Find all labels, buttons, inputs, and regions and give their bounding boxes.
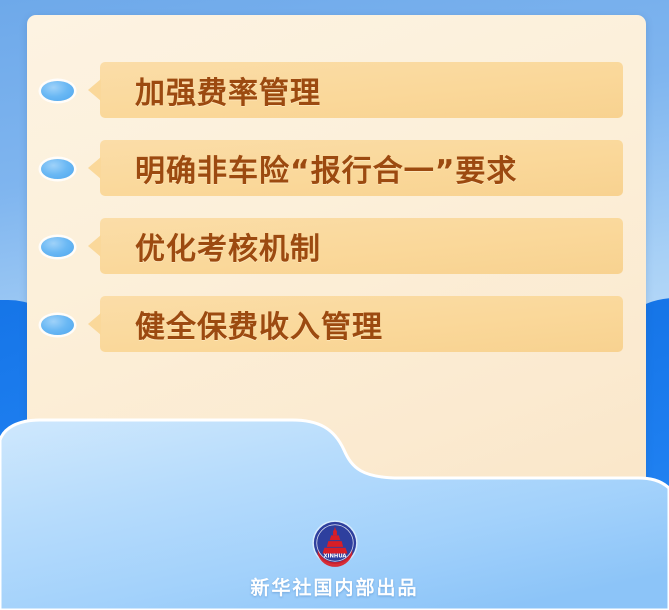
list-item-band: 优化考核机制 [100,218,623,274]
list-item-band: 明确非车险“报行合一”要求 [100,140,623,196]
blue-dot-icon [41,315,74,335]
bullet-list: 加强费率管理 明确非车险“报行合一”要求 优化考核机制 健全保费收入管理 [27,62,646,374]
list-item-band: 健全保费收入管理 [100,296,623,352]
list-item-label: 健全保费收入管理 [135,302,383,346]
list-item-label: 明确非车险“报行合一”要求 [135,146,517,190]
blue-dot-icon [41,237,74,257]
list-item-label: 加强费率管理 [135,68,321,112]
footer-text: 新华社国内部出品 [0,573,669,600]
footer: XINHUA 新华社国内部出品 [0,519,669,600]
list-item[interactable]: 加强费率管理 [27,62,646,140]
list-item[interactable]: 明确非车险“报行合一”要求 [27,140,646,218]
list-item-band: 加强费率管理 [100,62,623,118]
poster-canvas: 加强费率管理 明确非车险“报行合一”要求 优化考核机制 健全保费收入管理 [0,0,669,610]
logo-wordmark: XINHUA [323,553,347,559]
list-item[interactable]: 优化考核机制 [27,218,646,296]
blue-dot-icon [41,159,74,179]
list-item[interactable]: 健全保费收入管理 [27,296,646,374]
list-item-label: 优化考核机制 [135,224,321,268]
xinhua-news-agency-logo: XINHUA [311,519,359,567]
blue-dot-icon [41,81,74,101]
